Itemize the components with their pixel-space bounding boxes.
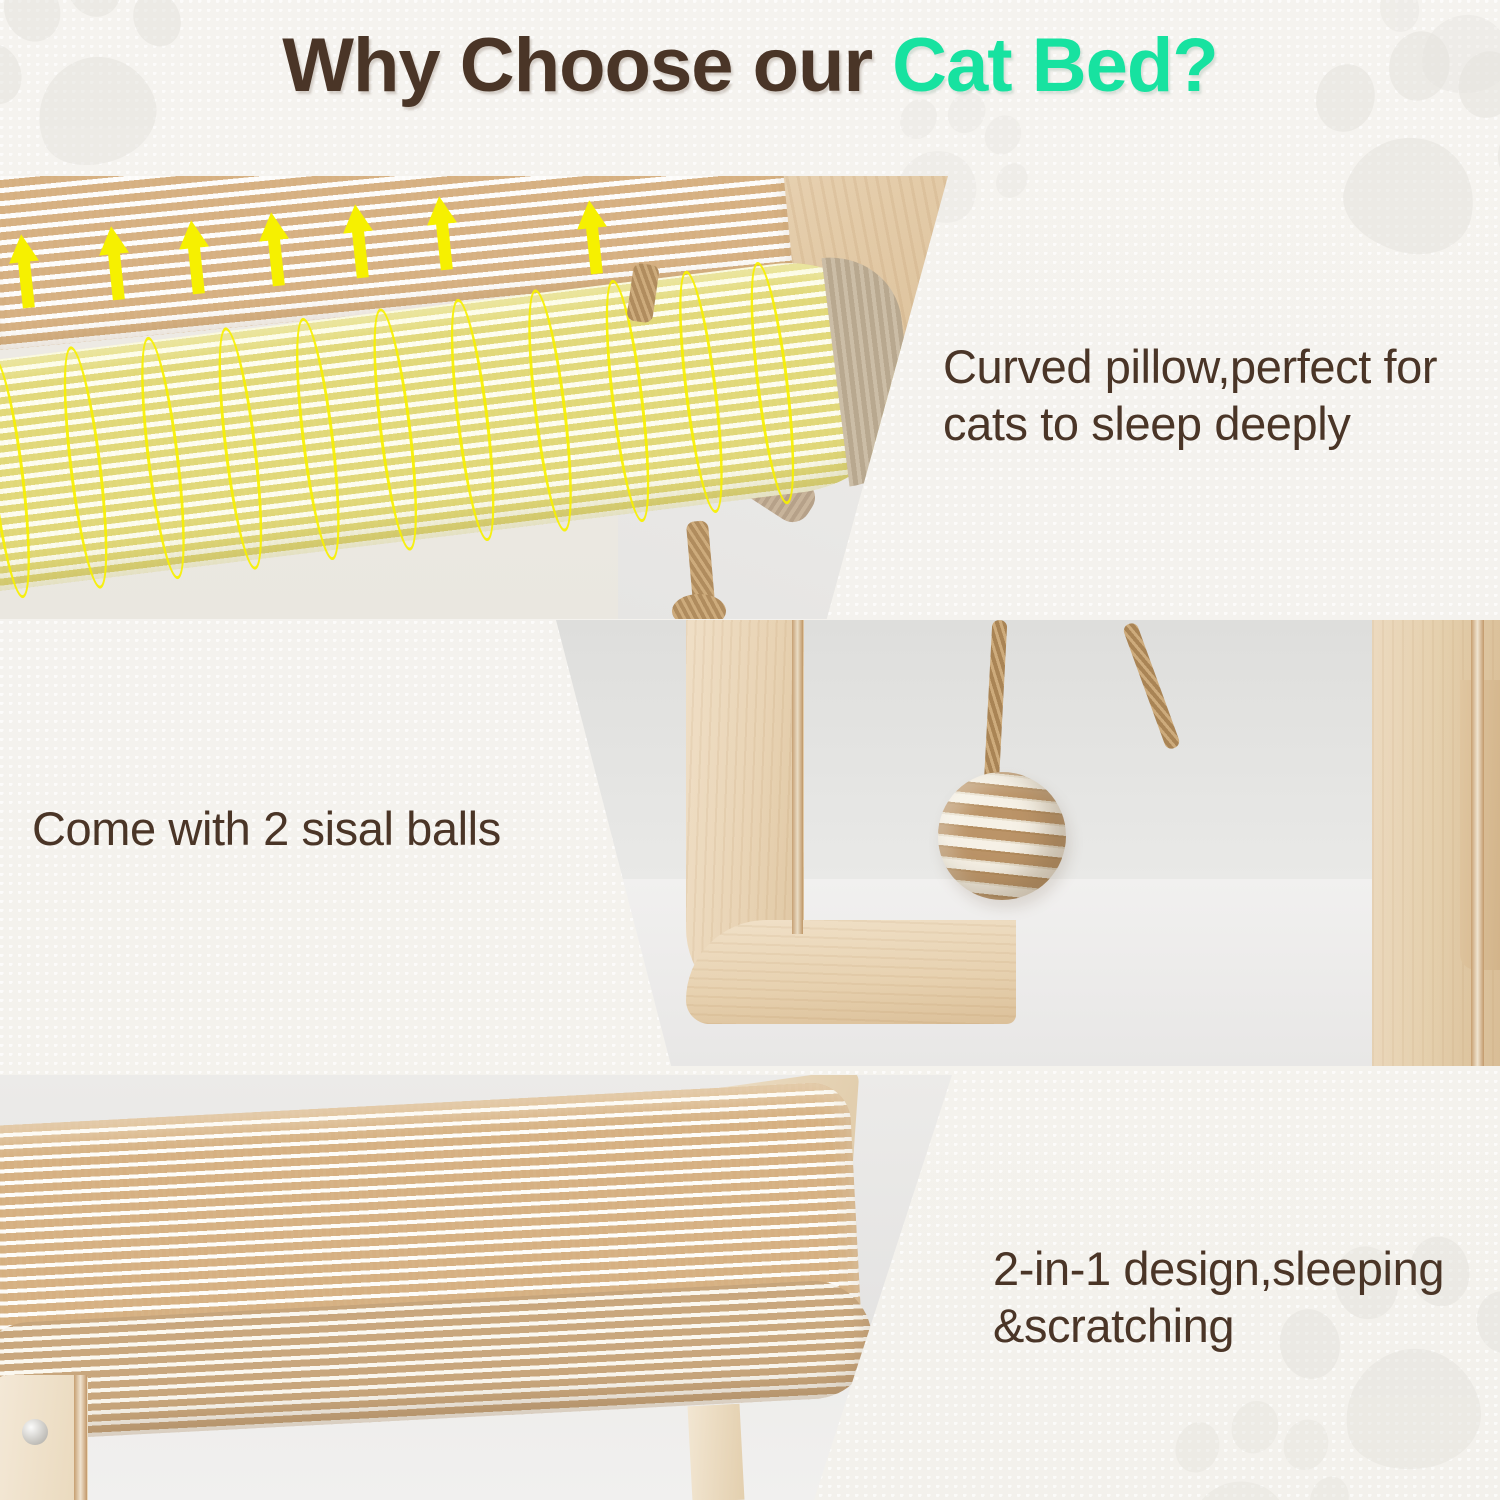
direction-arrow-icon <box>252 208 298 290</box>
feature-caption-sisal-balls: Come with 2 sisal balls <box>32 800 552 857</box>
feature-caption-two-in-one: 2-in-1 design,sleeping &scratching <box>993 1240 1493 1355</box>
wooden-leg-foot <box>686 920 1016 1024</box>
direction-arrow-icon <box>570 196 616 278</box>
hanging-rope-second <box>1122 621 1181 750</box>
assembly-screw <box>22 1419 48 1445</box>
feature-photo-curved-pillow <box>0 176 948 619</box>
feature-photo-sisal-balls <box>556 620 1500 1066</box>
plywood-edge-lines <box>74 1375 87 1500</box>
paw-print-icon <box>1135 1375 1374 1500</box>
direction-arrow-icon <box>92 222 138 304</box>
direction-arrow-icon <box>172 216 218 298</box>
page-title: Why Choose our Cat Bed? <box>0 28 1500 104</box>
infographic-canvas: Why Choose our Cat Bed? <box>0 0 1500 1500</box>
plywood-edge-lines <box>1471 620 1484 1066</box>
plywood-edge-lines <box>792 620 803 934</box>
wooden-right-leg <box>688 1404 745 1500</box>
page-title-accent: Cat Bed? <box>892 23 1218 108</box>
feature-caption-curved-pillow: Curved pillow,perfect for cats to sleep … <box>943 338 1488 453</box>
direction-arrow-icon <box>336 200 382 282</box>
direction-arrow-icon <box>2 230 48 312</box>
sisal-ball-toy <box>938 772 1066 900</box>
page-title-primary: Why Choose our <box>282 23 892 108</box>
hanging-rope <box>984 620 1008 788</box>
feature-photo-two-in-one <box>0 1075 952 1500</box>
direction-arrow-icon <box>420 192 466 274</box>
